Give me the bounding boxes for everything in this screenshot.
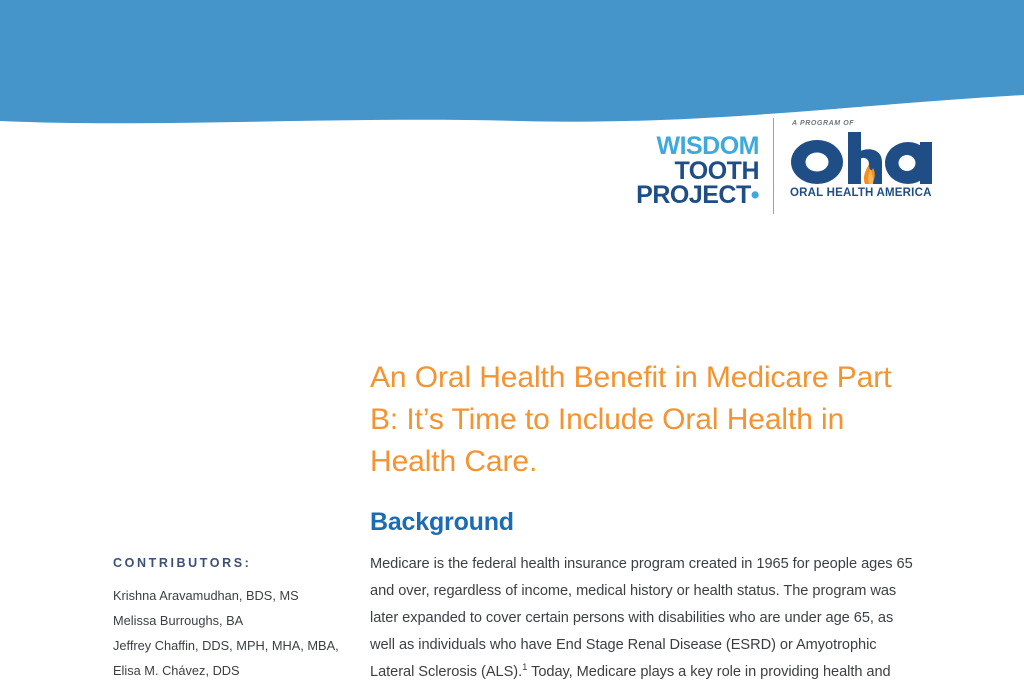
oha-program-of-label: A PROGRAM OF <box>792 120 932 127</box>
contributors-block: CONTRIBUTORS: Krishna Aravamudhan, BDS, … <box>113 556 358 683</box>
contributors-label: CONTRIBUTORS: <box>113 556 358 570</box>
contributor-item: Krishna Aravamudhan, BDS, MS <box>113 583 358 608</box>
body-column: Medicare is the federal health insurance… <box>370 551 918 683</box>
oha-full-name: ORAL HEALTH AMERICA <box>790 187 932 199</box>
oha-wordmark-icon <box>790 130 932 186</box>
logo-lockup: WISDOM TOOTH PROJECT• A PROGRAM OF <box>636 118 932 214</box>
wisdom-tooth-project-logo: WISDOM TOOTH PROJECT• <box>636 118 759 208</box>
wtp-logo-line-tooth: TOOTH <box>636 159 759 184</box>
wtp-trademark-dot-icon: • <box>751 181 759 209</box>
header-wave-shape <box>0 0 1024 123</box>
contributor-item: Jeffrey Chaffin, DDS, MPH, MHA, MBA, <box>113 633 358 658</box>
contributor-item: Melissa Burroughs, BA <box>113 608 358 633</box>
wtp-logo-project-text: PROJECT <box>636 181 751 209</box>
contributor-item: Elisa M. Chávez, DDS <box>113 658 358 683</box>
oral-health-america-logo: A PROGRAM OF ORAL H <box>790 118 932 199</box>
wtp-logo-line-wisdom: WISDOM <box>636 134 759 159</box>
section-heading-background: Background <box>370 508 514 537</box>
document-page: WISDOM TOOTH PROJECT• A PROGRAM OF <box>0 0 1024 683</box>
page-title: An Oral Health Benefit in Medicare Part … <box>370 357 915 483</box>
background-paragraph: Medicare is the federal health insurance… <box>370 551 918 683</box>
logo-divider <box>773 118 774 214</box>
wtp-logo-line-project: PROJECT• <box>636 183 759 208</box>
